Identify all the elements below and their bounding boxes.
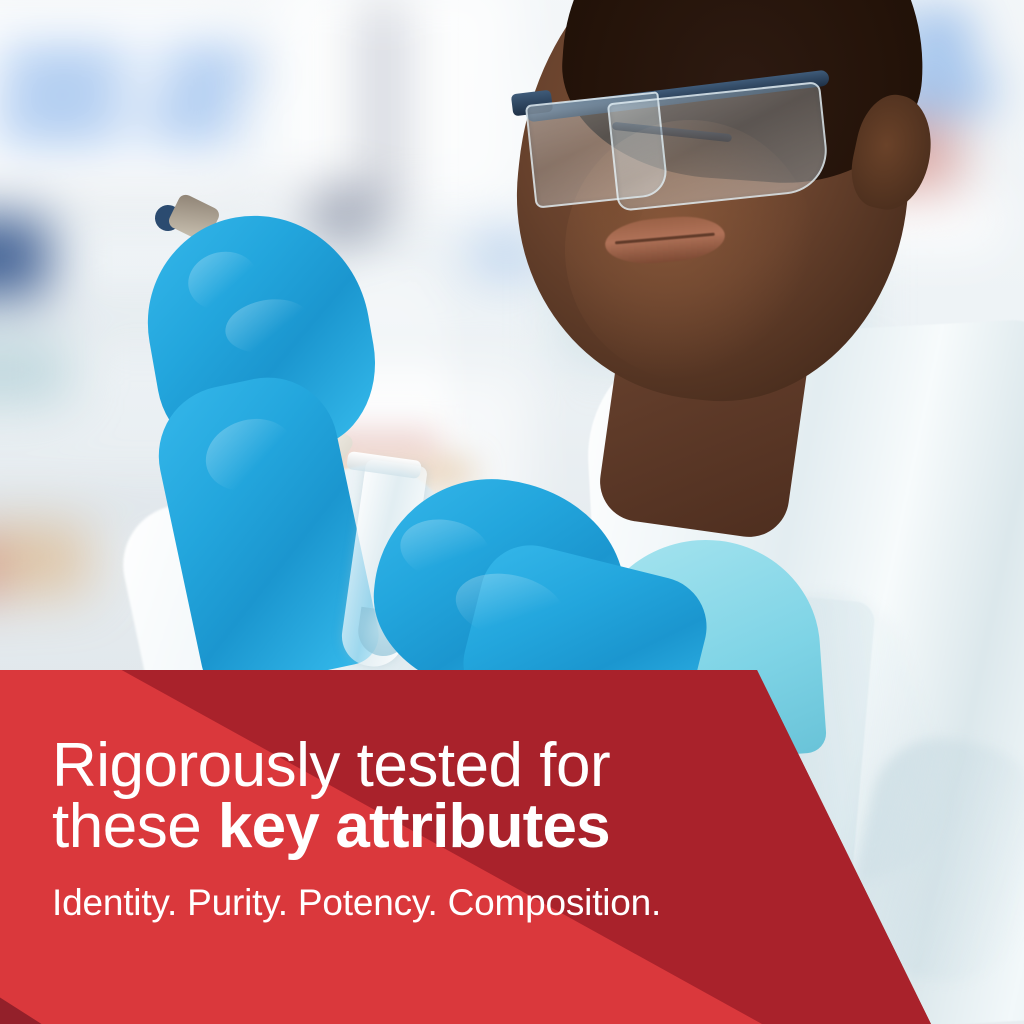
banner-copy: Rigorously tested for these key attribut… [52, 735, 772, 924]
headline-line-1-text: Rigorously tested for [52, 731, 610, 800]
headline-line-1: Rigorously tested for [52, 735, 772, 796]
headline-line-2-bold: key attributes [218, 792, 610, 861]
headline-line-2-regular: these [52, 792, 218, 861]
banner-subline: Identity. Purity. Potency. Composition. [52, 858, 772, 924]
headline-line-2: these key attributes [52, 796, 772, 857]
banner-image: Rigorously tested for these key attribut… [0, 0, 1024, 1024]
